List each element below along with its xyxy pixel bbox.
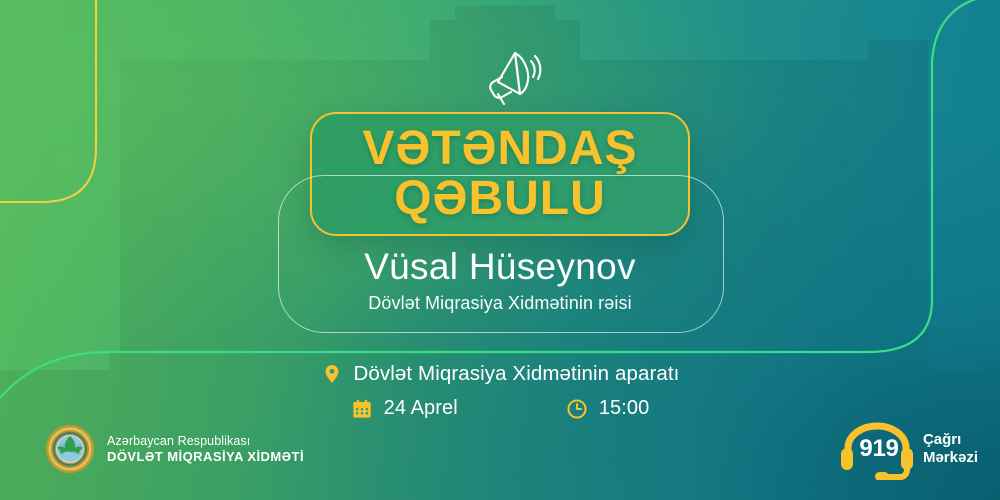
time-segment: 15:00 [566,397,650,420]
speaker-name: Vüsal Hüseynov [0,248,1000,287]
date-segment: 24 Aprel [351,397,458,420]
call-center-lockup: 919 Çağrı Mərkəzi [833,418,978,480]
gov-logo-lockup: Azərbaycan Respublikası DÖVLƏT MİQRASİYA… [45,424,304,474]
gov-logo-text: Azərbaycan Respublikası DÖVLƏT MİQRASİYA… [107,433,304,466]
poster-canvas: VƏTƏNDAŞ QƏBULU Vüsal Hüseynov Dövlət Mi… [0,0,1000,500]
time-text: 15:00 [599,397,650,420]
clock-icon [566,398,588,420]
date-time-row: 24 Aprel 15:00 [351,397,650,420]
megaphone-icon [484,47,546,107]
call-center-text: Çağrı Mərkəzi [923,431,978,466]
speaker-block: Vüsal Hüseynov Dövlət Miqrasiya Xidmətin… [0,248,1000,314]
headline-line-1: VƏTƏNDAŞ [362,126,637,172]
gov-logo-line-2: DÖVLƏT MİQRASİYA XİDMƏTİ [107,449,304,466]
headset-badge: 919 [833,418,921,480]
location-pin-icon [321,363,343,385]
call-center-number: 919 [853,435,905,463]
event-details: Dövlət Miqrasiya Xidmətinin aparatı [0,362,1000,420]
gov-logo-line-1: Azərbaycan Respublikası [107,433,304,449]
azerbaijan-state-emblem-icon [45,424,95,474]
call-center-label-1: Çağrı [923,431,978,449]
venue-text: Dövlət Miqrasiya Xidmətinin aparatı [354,362,680,386]
call-center-label-2: Mərkəzi [923,449,978,467]
yellow-accent-curve [0,0,96,202]
speaker-role: Dövlət Miqrasiya Xidmətinin rəisi [0,293,1000,314]
venue-row: Dövlət Miqrasiya Xidmətinin aparatı [321,362,680,386]
date-text: 24 Aprel [384,397,458,420]
calendar-icon [351,398,373,420]
